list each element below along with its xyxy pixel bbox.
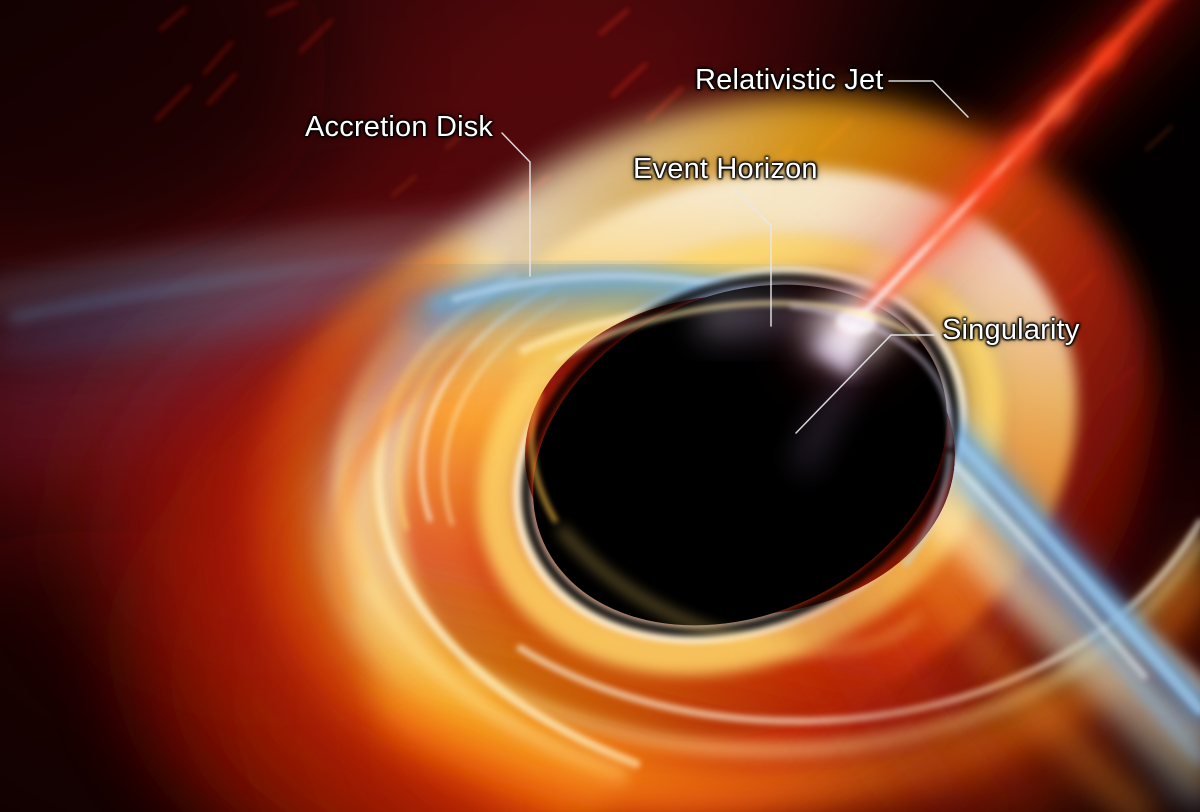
- leader-event-horizon: [734, 188, 771, 326]
- label-relativistic-jet[interactable]: Relativistic Jet: [695, 63, 884, 97]
- label-singularity[interactable]: Singularity: [942, 313, 1080, 347]
- leader-lines: [0, 0, 1200, 812]
- black-hole-illustration: Accretion Disk Relativistic Jet Event Ho…: [0, 0, 1200, 812]
- label-event-horizon[interactable]: Event Horizon: [633, 152, 818, 186]
- leader-relativistic-jet: [889, 81, 968, 117]
- leader-singularity: [796, 335, 934, 433]
- leader-accretion-disk: [502, 133, 530, 276]
- label-accretion-disk[interactable]: Accretion Disk: [305, 110, 493, 144]
